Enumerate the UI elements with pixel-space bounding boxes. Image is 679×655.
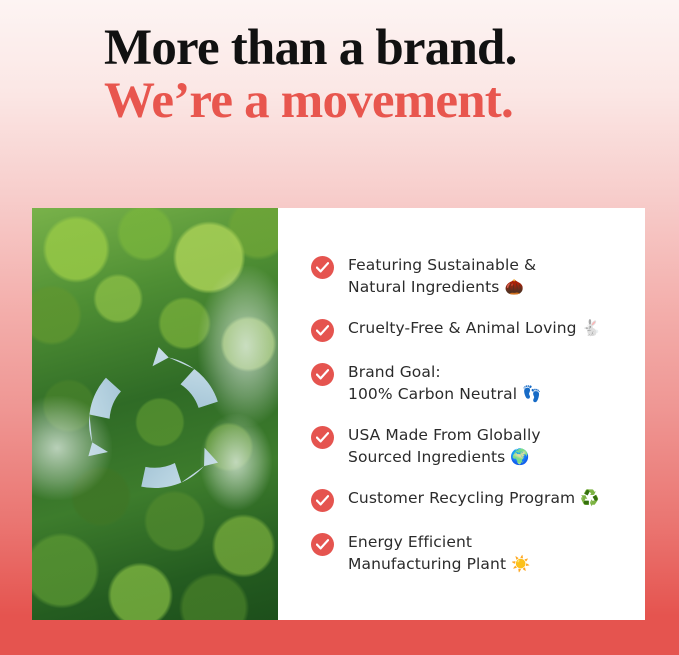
feature-text: Energy Efficient Manufacturing Plant ☀️ <box>348 531 531 575</box>
feature-text-line-2: Sourced Ingredients 🌍 <box>348 448 530 466</box>
brand-values-banner: More than a brand. We’re a movement. <box>0 0 679 655</box>
feature-text-line-2: Manufacturing Plant ☀️ <box>348 555 531 573</box>
feature-item: USA Made From Globally Sourced Ingredien… <box>311 424 645 468</box>
feature-item: Featuring Sustainable & Natural Ingredie… <box>311 254 645 298</box>
feature-item: Brand Goal: 100% Carbon Neutral 👣 <box>311 361 645 405</box>
feature-text-line-1: Energy Efficient <box>348 533 472 551</box>
feature-text: USA Made From Globally Sourced Ingredien… <box>348 424 541 468</box>
feature-item: Customer Recycling Program ♻️ <box>311 487 645 512</box>
feature-text-line-1: Featuring Sustainable & <box>348 256 536 274</box>
recycling-shaped-lake <box>71 338 239 506</box>
check-circle-icon <box>311 363 334 386</box>
check-circle-icon <box>311 319 334 342</box>
feature-text-line-1: Customer Recycling Program ♻️ <box>348 489 600 507</box>
feature-text-line-2: 100% Carbon Neutral 👣 <box>348 385 542 403</box>
feature-text-line-2: Natural Ingredients 🌰 <box>348 278 524 296</box>
check-circle-icon <box>311 533 334 556</box>
feature-item: Energy Efficient Manufacturing Plant ☀️ <box>311 531 645 575</box>
forest-aerial-photo <box>32 208 278 620</box>
feature-text-line-1: Cruelty-Free & Animal Loving 🐇 <box>348 319 601 337</box>
check-circle-icon <box>311 489 334 512</box>
headline-block: More than a brand. We’re a movement. <box>104 22 604 128</box>
check-circle-icon <box>311 256 334 279</box>
feature-item: Cruelty-Free & Animal Loving 🐇 <box>311 317 645 342</box>
headline-line-2: We’re a movement. <box>104 75 604 128</box>
feature-text: Brand Goal: 100% Carbon Neutral 👣 <box>348 361 542 405</box>
feature-card: Featuring Sustainable & Natural Ingredie… <box>32 208 645 620</box>
feature-list: Featuring Sustainable & Natural Ingredie… <box>278 208 645 620</box>
feature-text-line-1: USA Made From Globally <box>348 426 541 444</box>
feature-text-line-1: Brand Goal: <box>348 363 441 381</box>
check-circle-icon <box>311 426 334 449</box>
headline-line-1: More than a brand. <box>104 22 604 75</box>
feature-text: Featuring Sustainable & Natural Ingredie… <box>348 254 536 298</box>
feature-text: Customer Recycling Program ♻️ <box>348 487 600 509</box>
feature-text: Cruelty-Free & Animal Loving 🐇 <box>348 317 601 339</box>
